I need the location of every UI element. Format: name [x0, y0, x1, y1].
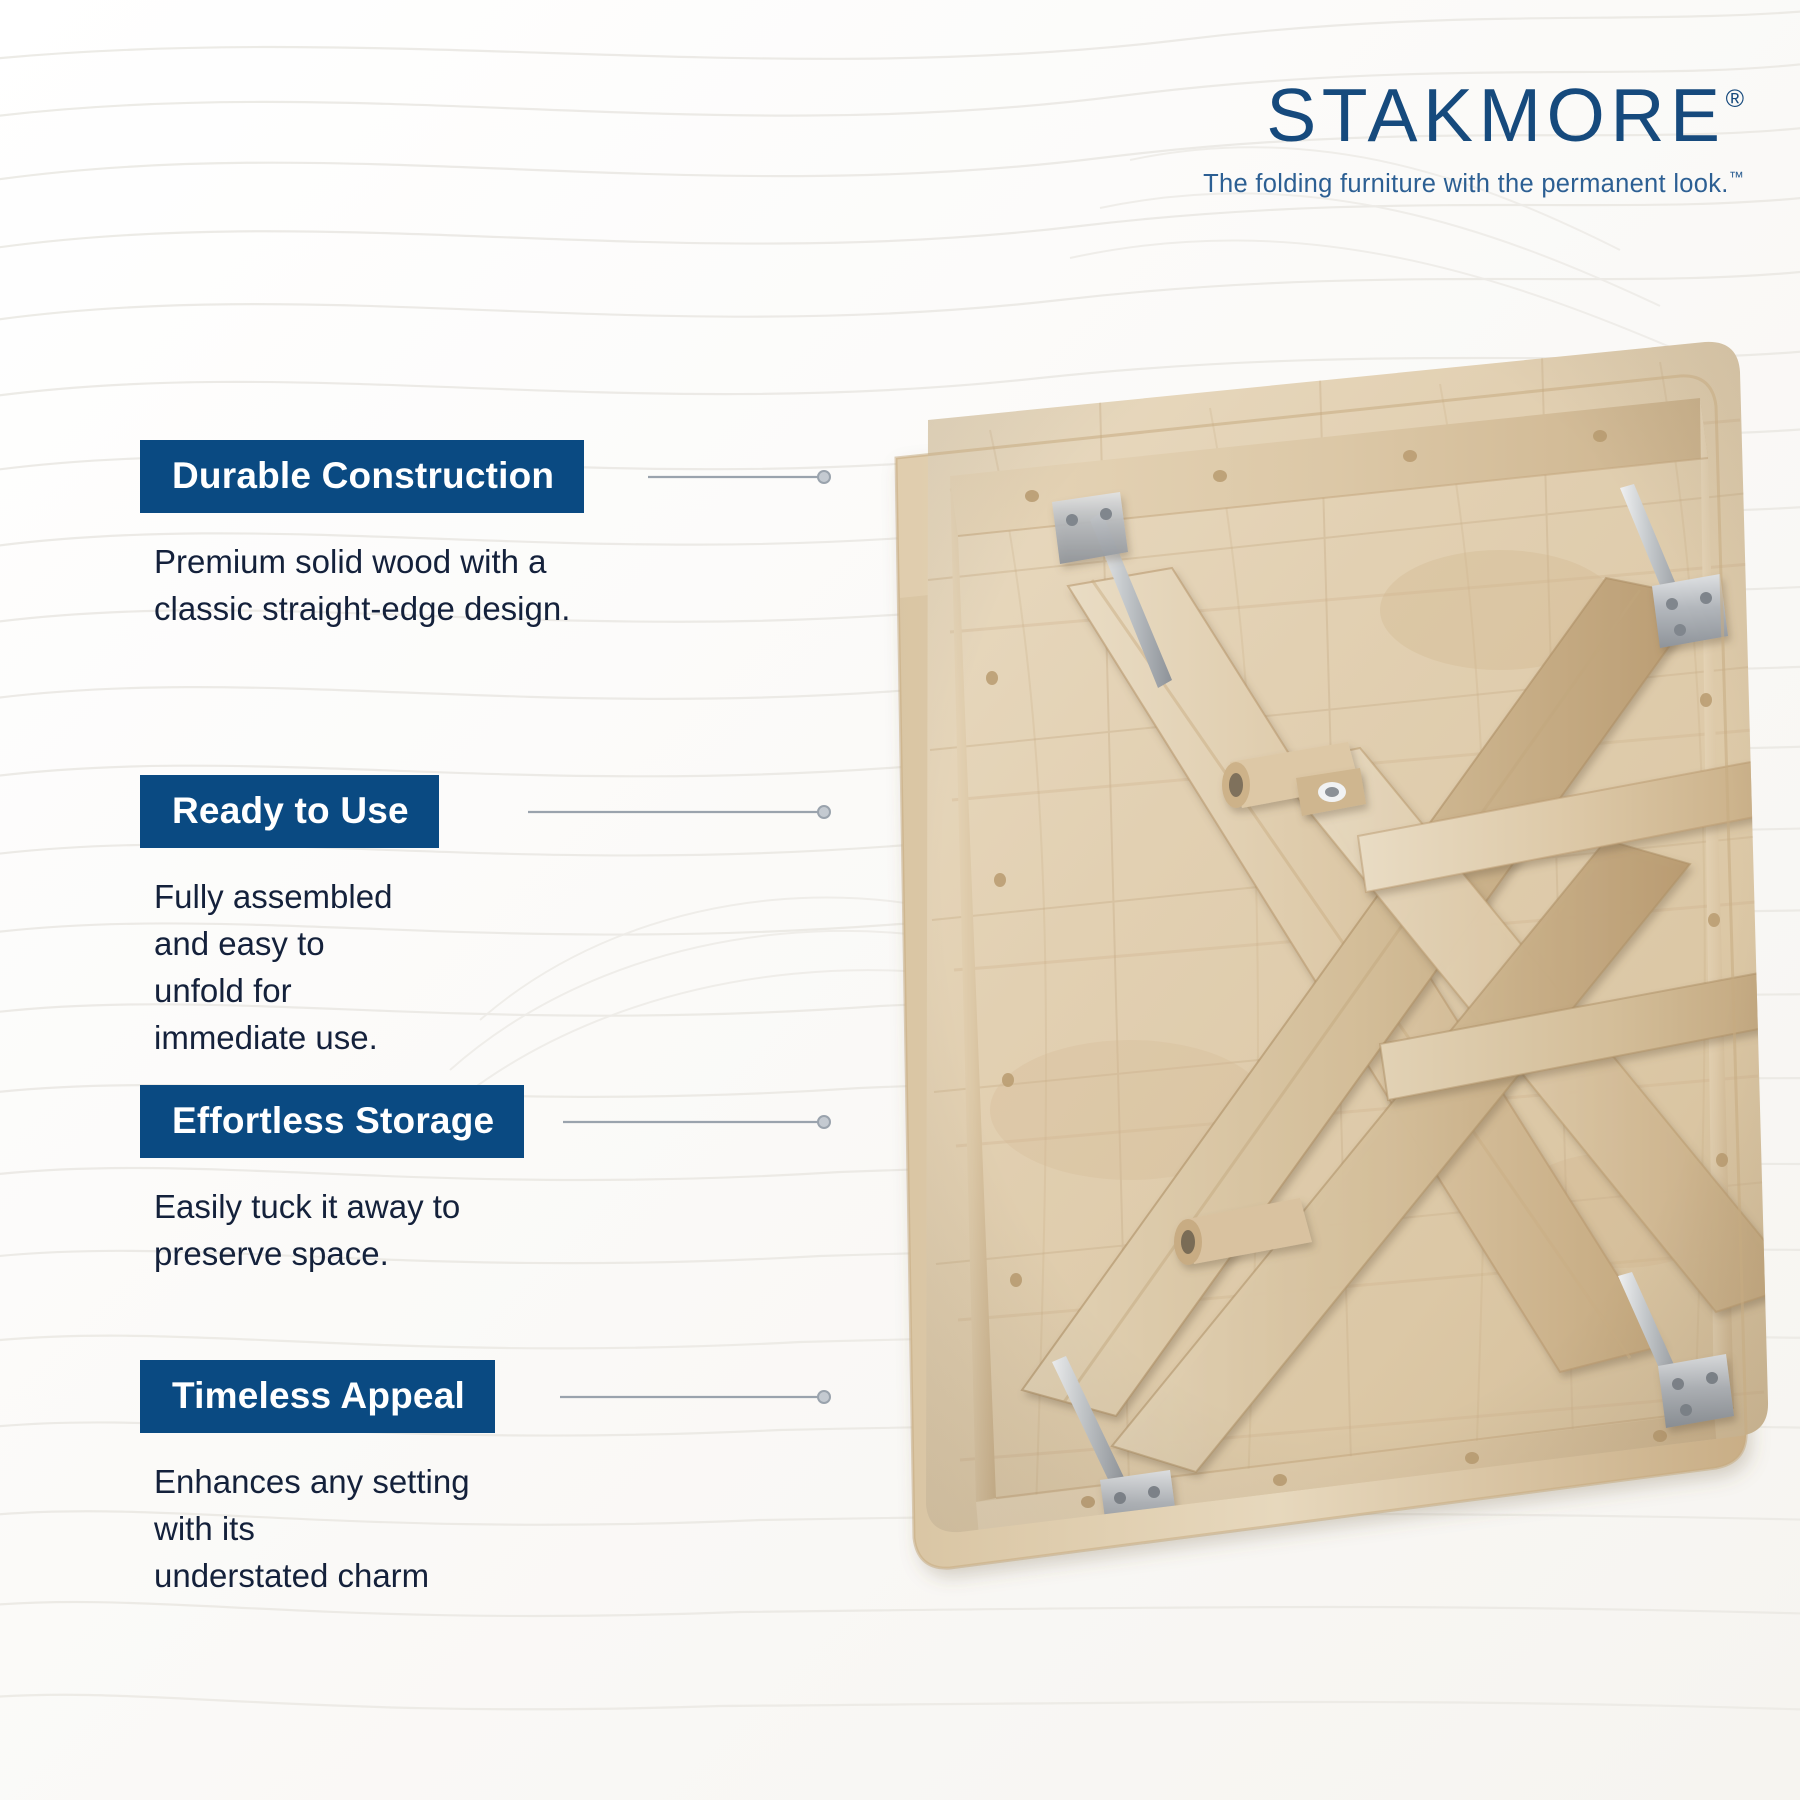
feature-description-1: Fully assembled and easy to unfold for i… — [154, 874, 439, 1061]
feature-item-ready-to-use: Ready to Use Fully assembled and easy to… — [140, 775, 439, 1061]
infographic-canvas: STAKMORE® The folding furniture with the… — [0, 0, 1800, 1800]
feature-description-0-line-1: classic straight-edge design. — [154, 586, 584, 633]
connector-dot-2 — [818, 1116, 830, 1128]
feature-description-2: Easily tuck it away to preserve space. — [154, 1184, 524, 1278]
brand-logo: STAKMORE® The folding furniture with the… — [1203, 78, 1744, 199]
brand-tagline: The folding furniture with the permanent… — [1203, 169, 1744, 199]
trademark-icon: ™ — [1729, 169, 1744, 186]
feature-badge-1: Ready to Use — [140, 775, 439, 848]
feature-description-1-line-1: unfold for immediate use. — [154, 968, 439, 1062]
feature-description-0-line-0: Premium solid wood with a — [154, 539, 584, 586]
connector-dot-1 — [818, 806, 830, 818]
feature-description-0: Premium solid wood with a classic straig… — [154, 539, 584, 633]
feature-description-2-line-0: Easily tuck it away to preserve space. — [154, 1184, 524, 1278]
feature-badge-2: Effortless Storage — [140, 1085, 524, 1158]
feature-description-3: Enhances any setting with its understate… — [154, 1459, 495, 1600]
brand-wordmark: STAKMORE® — [1203, 78, 1744, 153]
brand-tagline-text: The folding furniture with the permanent… — [1203, 170, 1729, 198]
feature-badge-0: Durable Construction — [140, 440, 584, 513]
registered-trademark-icon: ® — [1726, 85, 1744, 113]
brand-wordmark-text: STAKMORE — [1266, 73, 1725, 157]
feature-description-1-line-0: Fully assembled and easy to — [154, 874, 439, 968]
feature-item-timeless-appeal: Timeless Appeal Enhances any setting wit… — [140, 1360, 495, 1600]
connector-dot-3 — [818, 1391, 830, 1403]
feature-badge-3: Timeless Appeal — [140, 1360, 495, 1433]
feature-item-effortless-storage: Effortless Storage Easily tuck it away t… — [140, 1085, 524, 1278]
connector-dot-0 — [818, 471, 830, 483]
feature-item-durable-construction: Durable Construction Premium solid wood … — [140, 440, 584, 633]
feature-description-3-line-0: Enhances any setting with its — [154, 1459, 495, 1553]
feature-description-3-line-1: understated charm — [154, 1553, 495, 1600]
